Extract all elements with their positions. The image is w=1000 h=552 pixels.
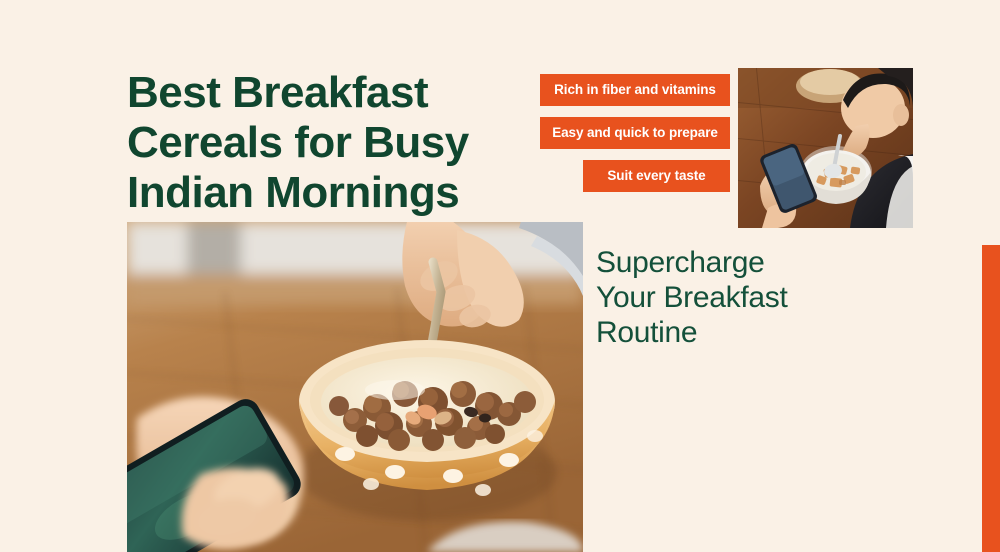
cereal-bowl-illustration bbox=[127, 222, 583, 552]
person-eating-cereal-illustration bbox=[738, 68, 913, 228]
feature-tag-easy-quick: Easy and quick to prepare bbox=[540, 117, 730, 149]
headline-line-3: Indian Mornings bbox=[127, 168, 557, 218]
subheading-line-2: Your Breakfast bbox=[596, 280, 896, 315]
headline-line-2: Cereals for Busy bbox=[127, 118, 557, 168]
right-accent-bar bbox=[982, 245, 1000, 552]
subheading-line-1: Supercharge bbox=[596, 245, 896, 280]
person-eating-cereal-photo bbox=[738, 68, 913, 228]
headline-line-1: Best Breakfast bbox=[127, 68, 557, 118]
feature-tag-every-taste: Suit every taste bbox=[583, 160, 730, 192]
cereal-bowl-with-phone-photo bbox=[127, 222, 583, 552]
page-title: Best Breakfast Cereals for Busy Indian M… bbox=[127, 68, 557, 218]
poster-canvas: Best Breakfast Cereals for Busy Indian M… bbox=[0, 0, 1000, 552]
feature-tag-list: Rich in fiber and vitamins Easy and quic… bbox=[540, 74, 730, 203]
feature-tag-fiber-vitamins: Rich in fiber and vitamins bbox=[540, 74, 730, 106]
subheading-line-3: Routine bbox=[596, 315, 896, 350]
subheading: Supercharge Your Breakfast Routine bbox=[596, 245, 896, 350]
